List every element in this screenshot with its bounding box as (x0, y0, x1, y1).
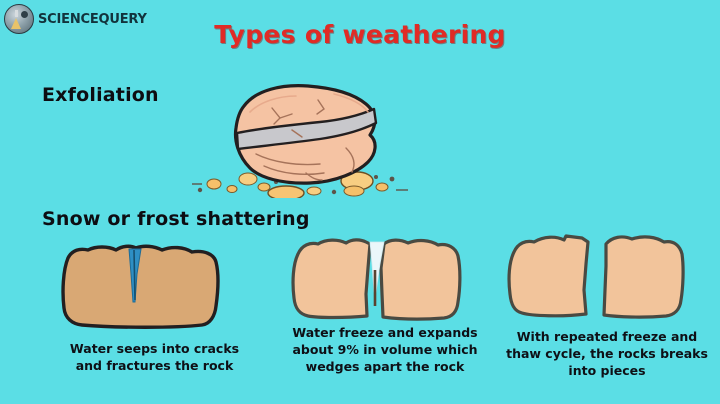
caption-line: Water freeze and expands (274, 324, 496, 341)
caption-stage-2: Water freeze and expands about 9% in vol… (274, 324, 496, 375)
slide-canvas: SCIENCEQUERY Types of weathering Exfolia… (0, 0, 720, 404)
caption-line: into pieces (500, 362, 714, 379)
watermark-branding: SCIENCEQUERY (4, 4, 147, 34)
caption-stage-1: Water seeps into cracks and fractures th… (42, 340, 267, 374)
rock-with-water-filled-crack-illustration (56, 240, 224, 332)
science-flask-logo-icon (4, 4, 34, 34)
rock-left-half (293, 240, 370, 318)
caption-stage-3: With repeated freeze and thaw cycle, the… (500, 328, 714, 379)
section-heading-frost-shattering: Snow or frost shattering (42, 208, 310, 230)
exfoliation-rock-illustration (186, 78, 416, 198)
section-heading-exfoliation: Exfoliation (42, 84, 159, 106)
rock-piece-left (509, 236, 588, 316)
crack-line (134, 250, 135, 300)
rock-wedged-apart-by-ice-illustration (288, 234, 466, 324)
caption-line: Water seeps into cracks (42, 340, 267, 357)
rock-body (63, 246, 218, 327)
watermark-label: SCIENCEQUERY (38, 12, 147, 27)
caption-line: wedges apart the rock (274, 358, 496, 375)
caption-line: thaw cycle, the rocks breaks (500, 345, 714, 362)
caption-line: With repeated freeze and (500, 328, 714, 345)
rock-right-half (381, 240, 460, 319)
rock-piece-right (604, 237, 683, 317)
rock-broken-into-two-pieces-illustration (504, 230, 688, 322)
caption-line: and fractures the rock (42, 357, 267, 374)
caption-line: about 9% in volume which (274, 341, 496, 358)
